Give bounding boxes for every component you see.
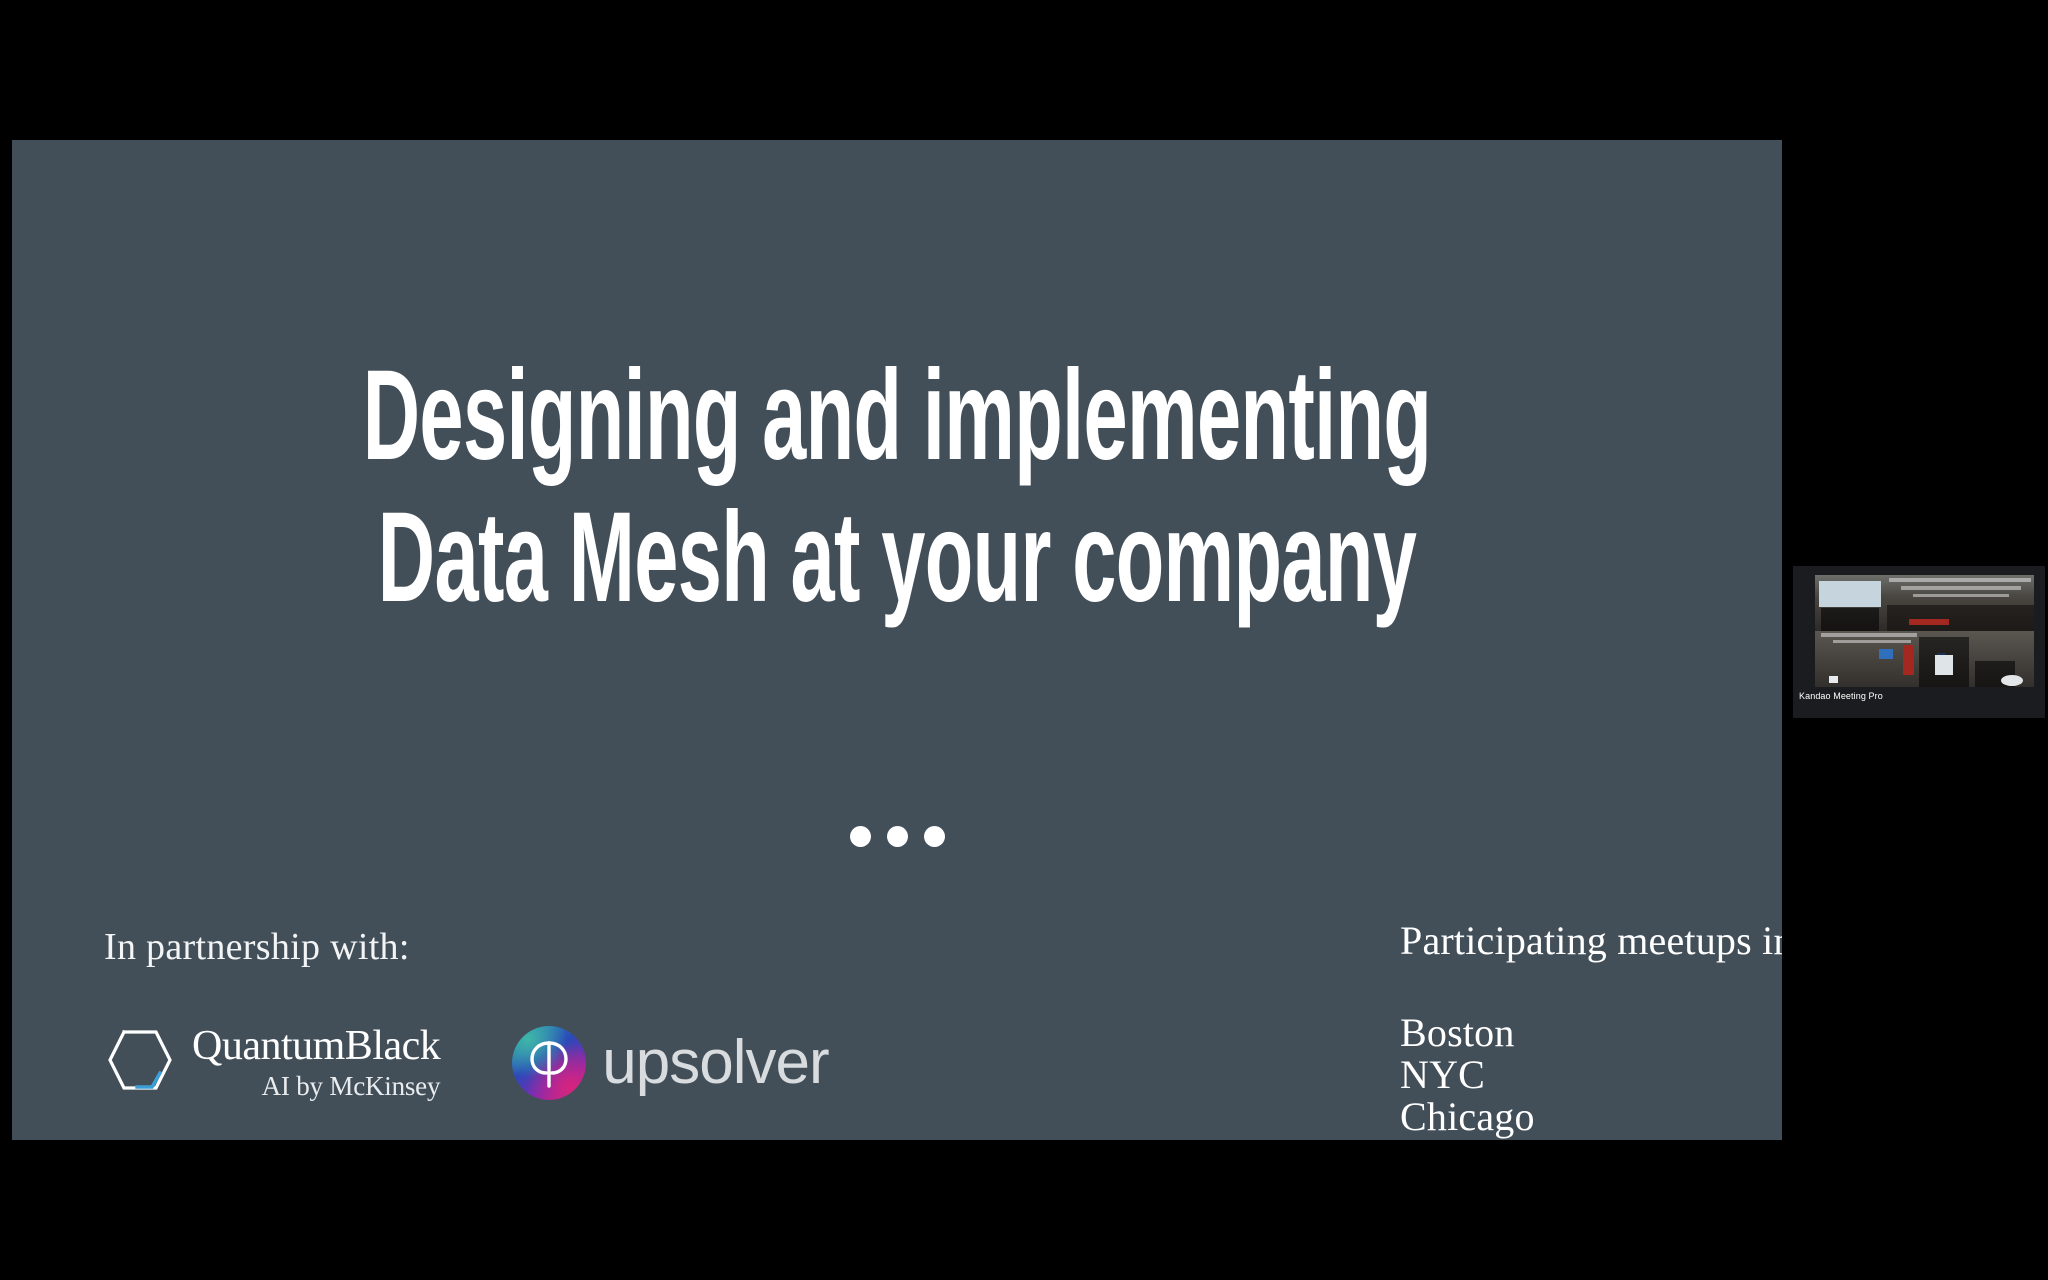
whiteboard <box>1935 655 1953 675</box>
hexagon-icon <box>104 1026 176 1099</box>
red-seating <box>1909 619 1949 625</box>
red-banner <box>1903 645 1914 675</box>
room-shadow <box>1821 608 1879 631</box>
webcam-tile[interactable]: Kandao Meeting Pro <box>1793 566 2045 718</box>
ceiling-light <box>1901 586 2021 590</box>
meetups-block: Participating meetups in Boston NYC Chic… <box>1400 918 1782 1140</box>
quantumblack-tagline: AI by McKinsey <box>262 1073 441 1100</box>
divider-dot <box>924 826 945 847</box>
quantumblack-name: QuantumBlack <box>192 1025 440 1067</box>
webcam-pane-upper <box>1815 575 2034 631</box>
quantumblack-wordmark: QuantumBlack AI by McKinsey <box>192 1025 440 1100</box>
floor-object <box>1829 676 1838 683</box>
webcam-video-feed <box>1815 575 2034 687</box>
divider-dot <box>850 826 871 847</box>
quantumblack-logo: QuantumBlack AI by McKinsey <box>104 1025 440 1100</box>
webcam-participant-label: Kandao Meeting Pro <box>1799 691 1883 701</box>
slide-title-line-1: Designing and implementing <box>348 345 1445 487</box>
slide-title: Designing and implementing Data Mesh at … <box>348 345 1445 629</box>
upsolver-logo: upsolver <box>512 1026 828 1100</box>
meetup-city: Boston <box>1400 1012 1782 1054</box>
projector-screen <box>1819 581 1881 607</box>
audience-crowd <box>1887 605 2034 631</box>
ceiling-light <box>1833 640 1911 643</box>
meetup-city: Chicago <box>1400 1096 1782 1138</box>
partnership-block: In partnership with: QuantumBlack AI by … <box>104 925 864 1100</box>
partnership-label: In partnership with: <box>104 925 864 969</box>
meetups-heading: Participating meetups in <box>1400 918 1782 964</box>
presentation-slide[interactable]: Designing and implementing Data Mesh at … <box>12 140 1782 1140</box>
meetup-city: Toronto <box>1400 1138 1782 1140</box>
round-table <box>2001 675 2023 686</box>
ceiling-light <box>1889 578 2031 582</box>
meetup-city: NYC <box>1400 1054 1782 1096</box>
meetups-list: Boston NYC Chicago Toronto Montreal <box>1400 1012 1782 1140</box>
divider-dot <box>887 826 908 847</box>
wall-monitor <box>1879 649 1893 659</box>
partner-logo-row: QuantumBlack AI by McKinsey upsolver <box>104 1025 864 1100</box>
slide-divider-dots <box>12 826 1782 847</box>
upsolver-wordmark: upsolver <box>602 1032 828 1094</box>
ceiling-light <box>1821 633 1917 637</box>
slide-title-line-2: Data Mesh at your company <box>348 487 1445 629</box>
phi-circle-icon <box>512 1026 586 1100</box>
ceiling-light <box>1913 594 2009 597</box>
webcam-pane-lower <box>1815 631 2034 687</box>
